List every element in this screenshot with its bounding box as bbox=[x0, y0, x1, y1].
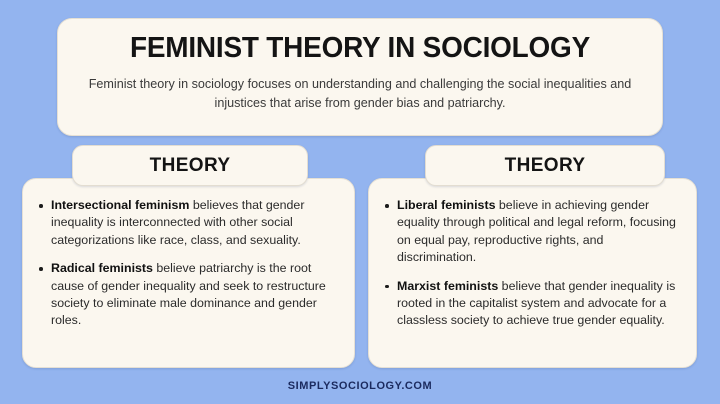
theory-badge-right: THEORY bbox=[425, 145, 665, 186]
theory-badge-right-label: THEORY bbox=[505, 155, 586, 177]
bullet-lead: Intersectional feminism bbox=[51, 198, 189, 212]
theory-bullet-list-right: Liberal feminists believe in achieving g… bbox=[377, 197, 682, 330]
theory-badge-left: THEORY bbox=[72, 145, 308, 186]
infographic-canvas: FEMINIST THEORY IN SOCIOLOGY Feminist th… bbox=[0, 0, 720, 404]
list-item: Liberal feminists believe in achieving g… bbox=[377, 197, 682, 267]
header-subtitle: Feminist theory in sociology focuses on … bbox=[77, 75, 643, 112]
theory-bullet-list-left: Intersectional feminism believes that ge… bbox=[31, 197, 340, 330]
list-item: Intersectional feminism believes that ge… bbox=[31, 197, 340, 249]
header-card: FEMINIST THEORY IN SOCIOLOGY Feminist th… bbox=[57, 18, 663, 136]
list-item: Radical feminists believe patriarchy is … bbox=[31, 260, 340, 330]
theory-badge-left-label: THEORY bbox=[150, 155, 231, 177]
bullet-lead: Liberal feminists bbox=[397, 198, 495, 212]
list-item: Marxist feminists believe that gender in… bbox=[377, 278, 682, 330]
bullet-lead: Marxist feminists bbox=[397, 279, 498, 293]
bullet-lead: Radical feminists bbox=[51, 261, 153, 275]
theory-card-right: Liberal feminists believe in achieving g… bbox=[368, 178, 697, 368]
footer-attribution: SIMPLYSOCIOLOGY.COM bbox=[0, 380, 720, 392]
page-title: FEMINIST THEORY IN SOCIOLOGY bbox=[82, 29, 639, 67]
theory-card-left: Intersectional feminism believes that ge… bbox=[22, 178, 355, 368]
